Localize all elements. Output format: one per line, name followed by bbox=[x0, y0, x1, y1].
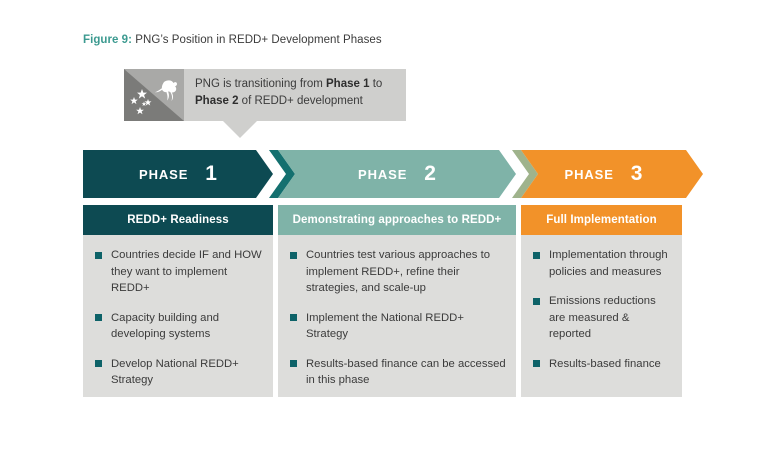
figure-label: Figure 9: bbox=[83, 34, 132, 46]
bullet-square-icon bbox=[95, 314, 102, 321]
list-item: Develop National REDD+ Strategy bbox=[93, 356, 263, 389]
list-item-text: Countries test various approaches to imp… bbox=[306, 249, 490, 294]
bullet-square-icon bbox=[290, 360, 297, 367]
callout-line1-suffix: to bbox=[370, 78, 383, 90]
list-item-text: Implementation through policies and meas… bbox=[549, 249, 668, 278]
subheader-phase-1: REDD+ Readiness bbox=[83, 205, 273, 235]
callout-tail-triangle bbox=[222, 120, 258, 138]
phase-chevron-band: PHASE1PHASE2PHASE3 bbox=[83, 150, 703, 198]
list-item-text: Implement the National REDD+ Strategy bbox=[306, 312, 464, 341]
bullet-list-phase-2: Countries test various approaches to imp… bbox=[288, 247, 506, 389]
callout-line2-suffix: of REDD+ development bbox=[238, 95, 362, 107]
bullet-square-icon bbox=[290, 252, 297, 259]
png-flag-icon bbox=[124, 69, 184, 121]
list-item: Implementation through policies and meas… bbox=[531, 247, 672, 280]
subheader-phase-2-label: Demonstrating approaches to REDD+ bbox=[293, 214, 502, 226]
bullet-square-icon bbox=[533, 360, 540, 367]
list-item: Capacity building and developing systems bbox=[93, 310, 263, 343]
flag-emblems bbox=[124, 69, 184, 121]
list-item-text: Results-based finance bbox=[549, 358, 661, 370]
bullet-list-phase-3: Implementation through policies and meas… bbox=[531, 247, 672, 372]
bullet-square-icon bbox=[533, 252, 540, 259]
panel-phase-1: Countries decide IF and HOW they want to… bbox=[83, 235, 273, 397]
list-item: Results-based finance bbox=[531, 356, 672, 373]
list-item-text: Countries decide IF and HOW they want to… bbox=[111, 249, 262, 294]
bullet-square-icon bbox=[290, 314, 297, 321]
list-item-text: Capacity building and developing systems bbox=[111, 312, 219, 341]
callout-phase1-bold: Phase 1 bbox=[326, 78, 369, 90]
figure-caption: Figure 9: PNG’s Position in REDD+ Develo… bbox=[83, 34, 382, 46]
phase-chevron-3 bbox=[521, 150, 703, 198]
subheader-phase-1-label: REDD+ Readiness bbox=[127, 214, 229, 226]
list-item: Emissions reductions are measured & repo… bbox=[531, 293, 672, 343]
panel-phase-3: Implementation through policies and meas… bbox=[521, 235, 682, 397]
figure-title: PNG’s Position in REDD+ Development Phas… bbox=[135, 34, 381, 46]
bullet-list-phase-1: Countries decide IF and HOW they want to… bbox=[93, 247, 263, 389]
panel-phase-2: Countries test various approaches to imp… bbox=[278, 235, 516, 397]
subheader-phase-3-label: Full Implementation bbox=[546, 214, 657, 226]
callout-box: PNG is transitioning from Phase 1 to Pha… bbox=[124, 69, 406, 121]
callout-phase2-bold: Phase 2 bbox=[195, 95, 238, 107]
phase-chevron-1 bbox=[83, 150, 273, 198]
bullet-square-icon bbox=[95, 252, 102, 259]
subheader-phase-3: Full Implementation bbox=[521, 205, 682, 235]
list-item: Implement the National REDD+ Strategy bbox=[288, 310, 506, 343]
bullet-square-icon bbox=[533, 298, 540, 305]
list-item: Results-based finance can be accessed in… bbox=[288, 356, 506, 389]
list-item-text: Results-based finance can be accessed in… bbox=[306, 358, 506, 387]
list-item: Countries decide IF and HOW they want to… bbox=[93, 247, 263, 297]
list-item-text: Emissions reductions are measured & repo… bbox=[549, 295, 656, 340]
callout-line1-prefix: PNG is transitioning from bbox=[195, 78, 326, 90]
callout-text: PNG is transitioning from Phase 1 to Pha… bbox=[184, 69, 406, 121]
subheader-phase-2: Demonstrating approaches to REDD+ bbox=[278, 205, 516, 235]
bullet-square-icon bbox=[95, 360, 102, 367]
list-item: Countries test various approaches to imp… bbox=[288, 247, 506, 297]
list-item-text: Develop National REDD+ Strategy bbox=[111, 358, 239, 387]
phase-chevron-2 bbox=[278, 150, 516, 198]
